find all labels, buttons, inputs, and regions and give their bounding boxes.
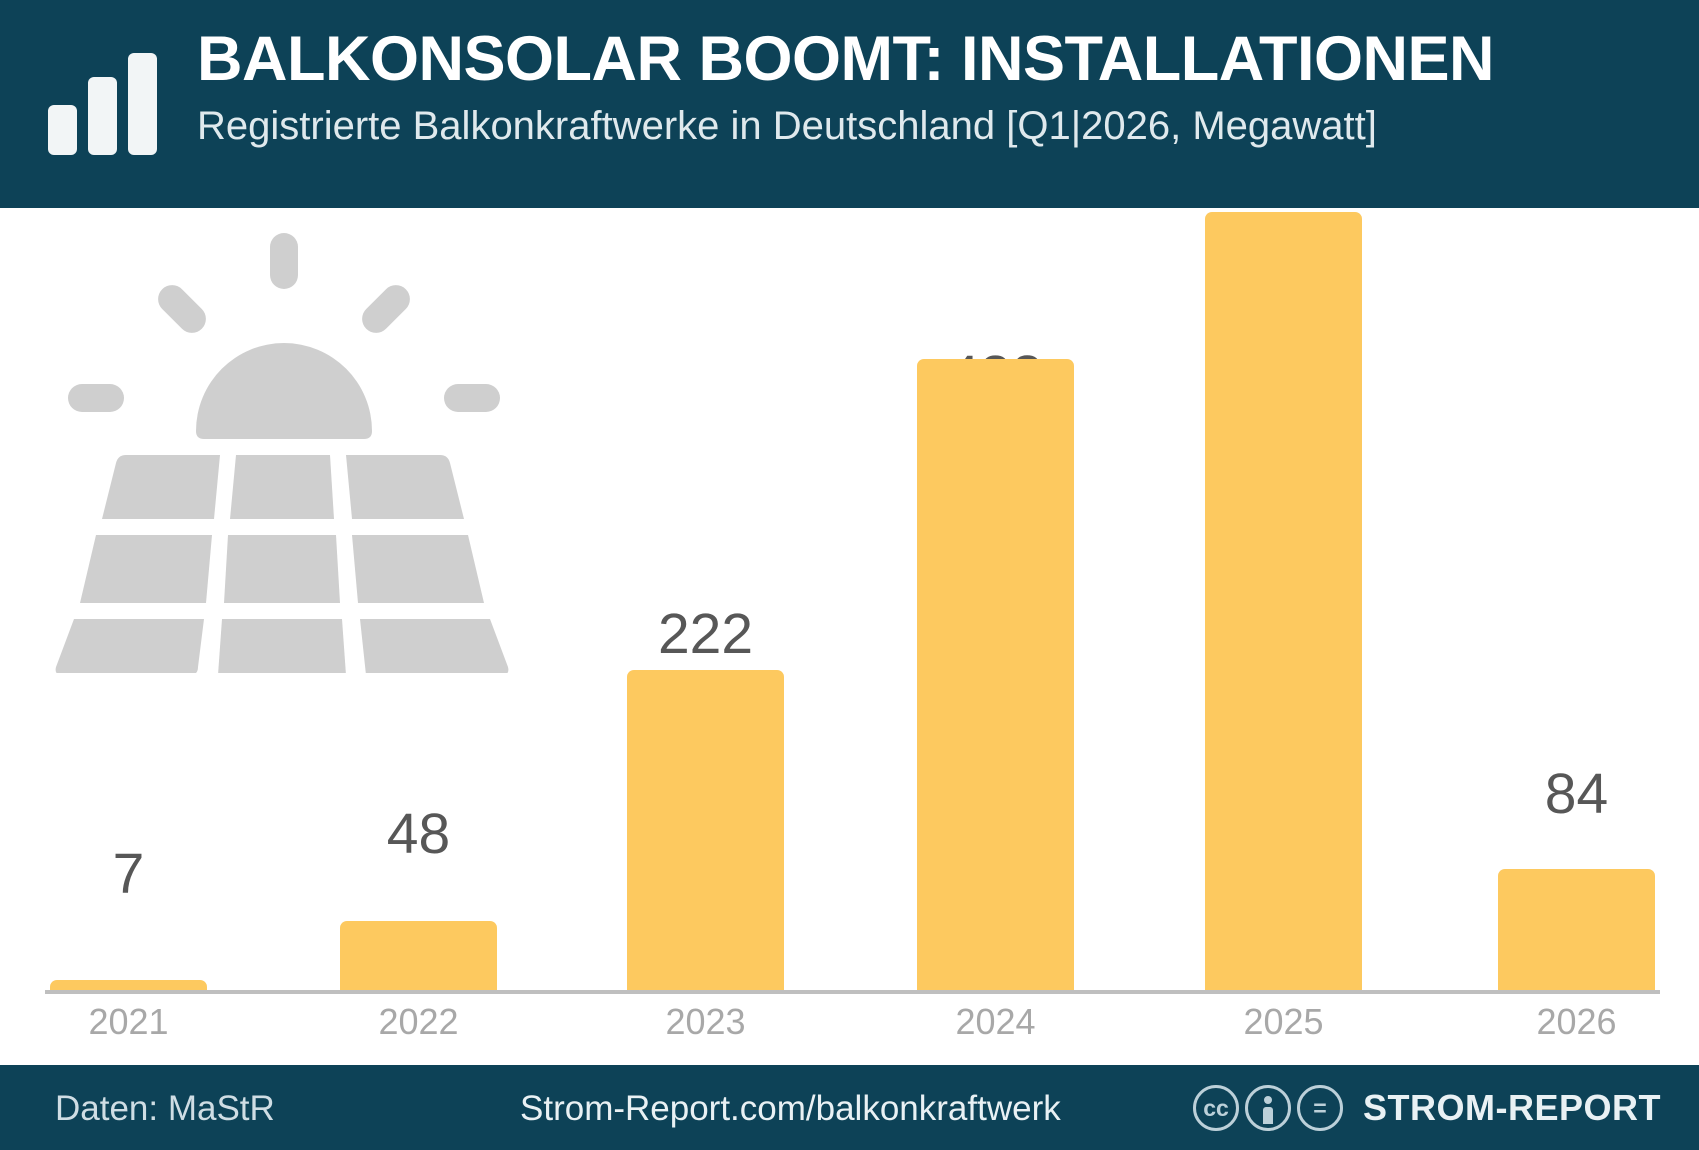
x-tick-2022: 2022	[340, 1004, 497, 1040]
bar-2025[interactable]	[1205, 212, 1362, 990]
bar-2024[interactable]	[917, 359, 1074, 990]
header-text-block: BALKONSOLAR BOOMT: INSTALLATIONEN Regist…	[197, 26, 1669, 148]
bar-chart-icon-bar-2	[88, 77, 117, 155]
cc-nd-equals-icon: =	[1297, 1085, 1343, 1131]
bar-value-label-2026: 84	[1498, 766, 1655, 823]
bar-chart-icon	[48, 53, 166, 155]
page-title: BALKONSOLAR BOOMT: INSTALLATIONEN	[197, 26, 1669, 92]
bar-chart-icon-bar-1	[48, 105, 77, 155]
brand-name: STROM-REPORT	[1363, 1087, 1661, 1129]
plot-region: 7 48 222 438 540 84 2021 2022 2023 2024 …	[0, 208, 1699, 1065]
infographic-root: BALKONSOLAR BOOMT: INSTALLATIONEN Regist…	[0, 0, 1699, 1150]
bar-value-label-2022: 48	[340, 806, 497, 863]
bar-chart-icon-bar-3	[128, 53, 157, 155]
x-tick-2021: 2021	[50, 1004, 207, 1040]
bar-value-label-2023: 222	[627, 606, 784, 663]
footer-bar: Daten: MaStR Strom-Report.com/balkonkraf…	[0, 1065, 1699, 1150]
x-tick-2026: 2026	[1498, 1004, 1655, 1040]
data-source-label: Daten: MaStR	[55, 1089, 275, 1129]
bar-2023[interactable]	[627, 670, 784, 990]
chart-area: 7 48 222 438 540 84 2021 2022 2023 2024 …	[0, 208, 1699, 1065]
x-tick-2024: 2024	[917, 1004, 1074, 1040]
bar-value-label-2021: 7	[50, 846, 207, 903]
brand-block: cc = STROM-REPORT	[1193, 1085, 1661, 1131]
bar-2021[interactable]	[50, 980, 207, 990]
header-banner: BALKONSOLAR BOOMT: INSTALLATIONEN Regist…	[0, 0, 1699, 208]
x-tick-2023: 2023	[627, 1004, 784, 1040]
bar-2026[interactable]	[1498, 869, 1655, 990]
cc-by-person-icon	[1245, 1085, 1291, 1131]
x-axis-baseline	[45, 990, 1660, 994]
x-tick-2025: 2025	[1205, 1004, 1362, 1040]
page-subtitle: Registrierte Balkonkraftwerke in Deutsch…	[197, 104, 1669, 148]
source-url-link[interactable]: Strom-Report.com/balkonkraftwerk	[520, 1089, 1061, 1129]
creative-commons-license-icons: cc =	[1193, 1085, 1343, 1131]
cc-icon: cc	[1193, 1085, 1239, 1131]
bar-2022[interactable]	[340, 921, 497, 990]
